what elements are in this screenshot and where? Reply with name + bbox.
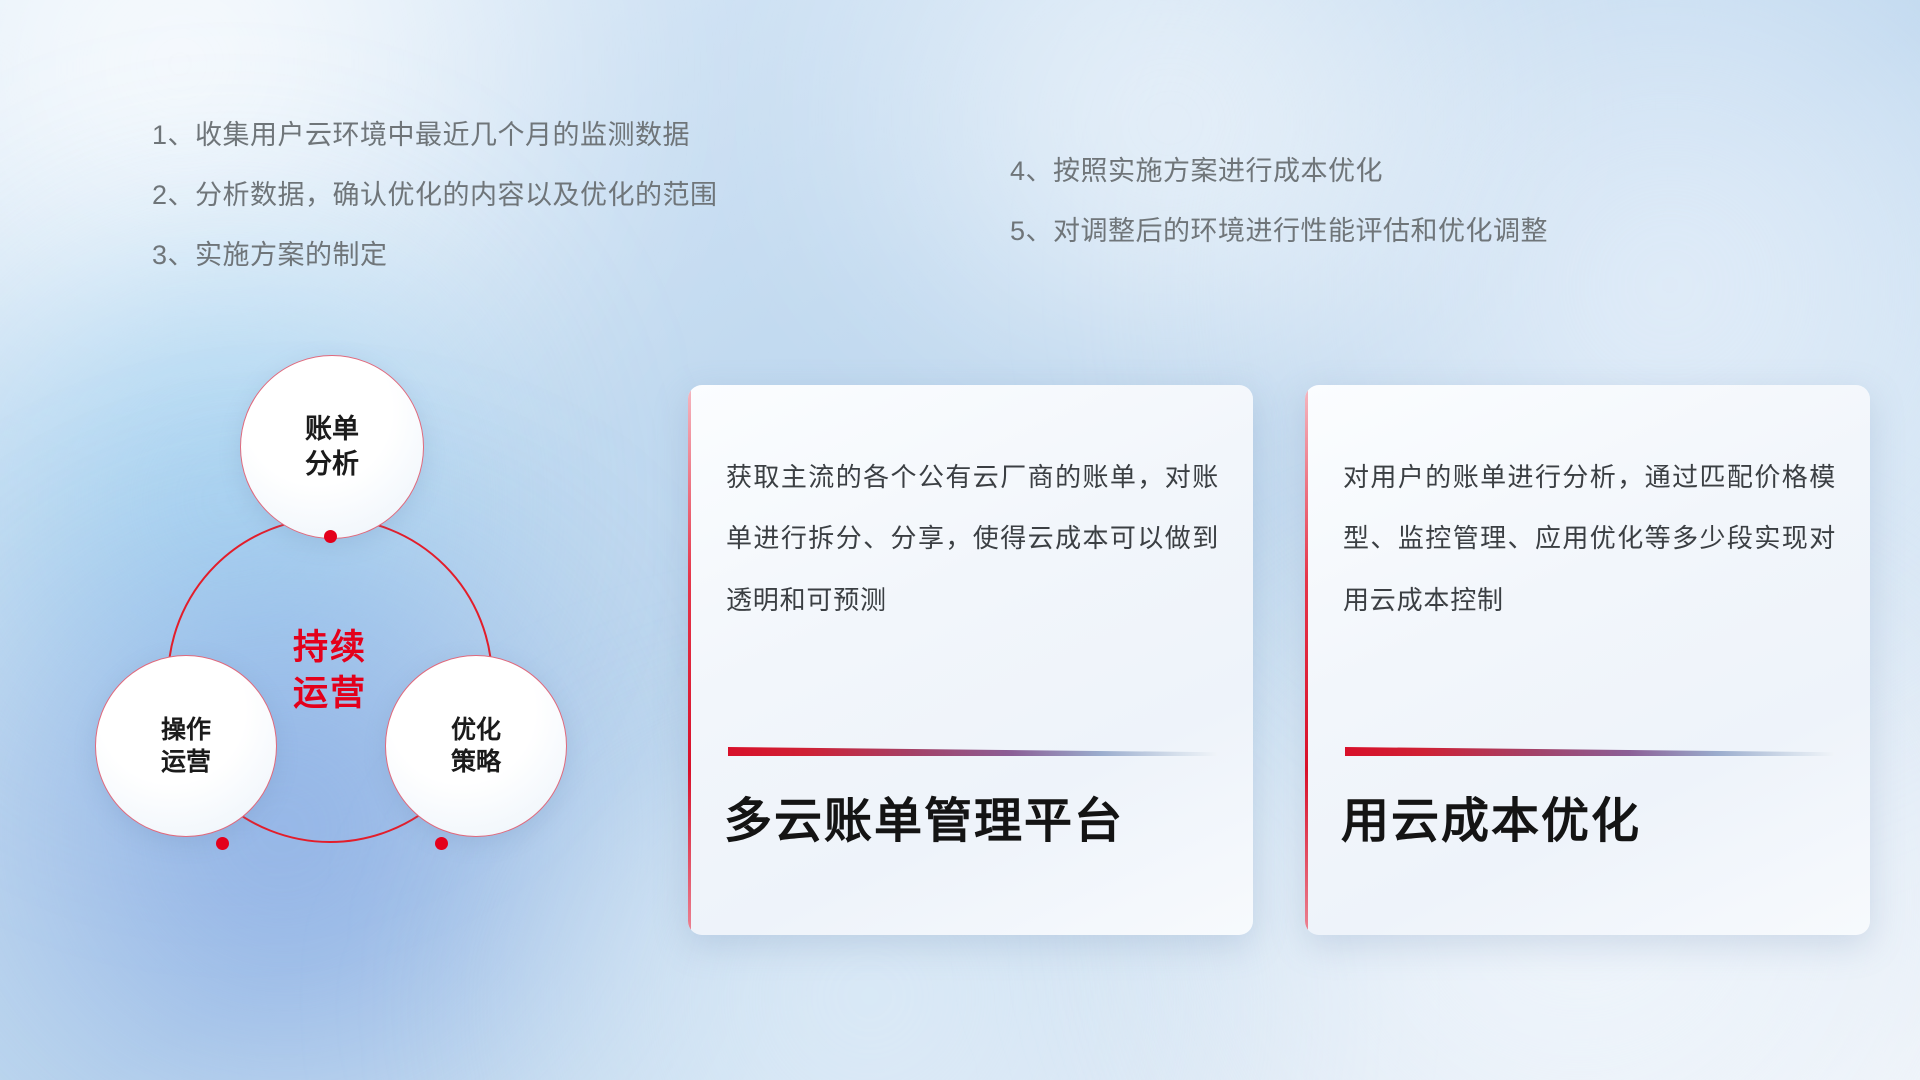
step-item: 3、实施方案的制定 [152, 242, 718, 269]
step-list-left: 1、收集用户云环境中最近几个月的监测数据 2、分析数据，确认优化的内容以及优化的… [152, 122, 718, 269]
node-label-line2: 策略 [451, 746, 501, 778]
node-label-line1: 账单 [305, 412, 359, 447]
card-accent-rule [728, 747, 1217, 756]
feature-card-multicloud-billing[interactable]: 获取主流的各个公有云厂商的账单，对账单进行拆分、分享，使得云成本可以做到透明和可… [688, 385, 1253, 935]
divider-bar [104, 313, 1874, 323]
feature-card-cost-optimization[interactable]: 对用户的账单进行分析，通过匹配价格模型、监控管理、应用优化等多少段实现对用云成本… [1305, 385, 1870, 935]
card-title: 用云成本优化 [1341, 793, 1846, 851]
ring-node-dot-top [324, 530, 337, 543]
node-label-line1: 优化 [451, 714, 501, 746]
step-item: 5、对调整后的环境进行性能评估和优化调整 [1010, 218, 1548, 245]
card-accent-rule [1345, 747, 1834, 756]
card-title: 多云账单管理平台 [724, 793, 1229, 851]
diagram-center-label: 持续 运营 [250, 625, 410, 716]
step-list-right: 4、按照实施方案进行成本优化 5、对调整后的环境进行性能评估和优化调整 [1010, 158, 1548, 245]
card-body-text: 对用户的账单进行分析，通过匹配价格模型、监控管理、应用优化等多少段实现对用云成本… [1343, 447, 1836, 631]
node-label-line2: 分析 [305, 447, 359, 482]
slide-canvas: 1、收集用户云环境中最近几个月的监测数据 2、分析数据，确认优化的内容以及优化的… [0, 0, 1920, 1080]
diagram-node-billing-analysis[interactable]: 账单 分析 [240, 355, 424, 539]
step-item: 4、按照实施方案进行成本优化 [1010, 158, 1548, 185]
ring-node-dot-bottom-right [435, 837, 448, 850]
center-label-line2: 运营 [250, 671, 410, 717]
diagram-node-optimization-strategy[interactable]: 优化 策略 [385, 655, 567, 837]
ring-node-dot-bottom-left [216, 837, 229, 850]
step-item: 1、收集用户云环境中最近几个月的监测数据 [152, 122, 718, 149]
cycle-diagram: 账单 分析 操作 运营 优化 策略 持续 运营 [95, 355, 640, 935]
node-label-line1: 操作 [161, 714, 211, 746]
step-item: 2、分析数据，确认优化的内容以及优化的范围 [152, 182, 718, 209]
card-body-text: 获取主流的各个公有云厂商的账单，对账单进行拆分、分享，使得云成本可以做到透明和可… [726, 447, 1219, 631]
node-label-line2: 运营 [161, 746, 211, 778]
section-divider [104, 313, 1874, 323]
center-label-line1: 持续 [250, 625, 410, 671]
